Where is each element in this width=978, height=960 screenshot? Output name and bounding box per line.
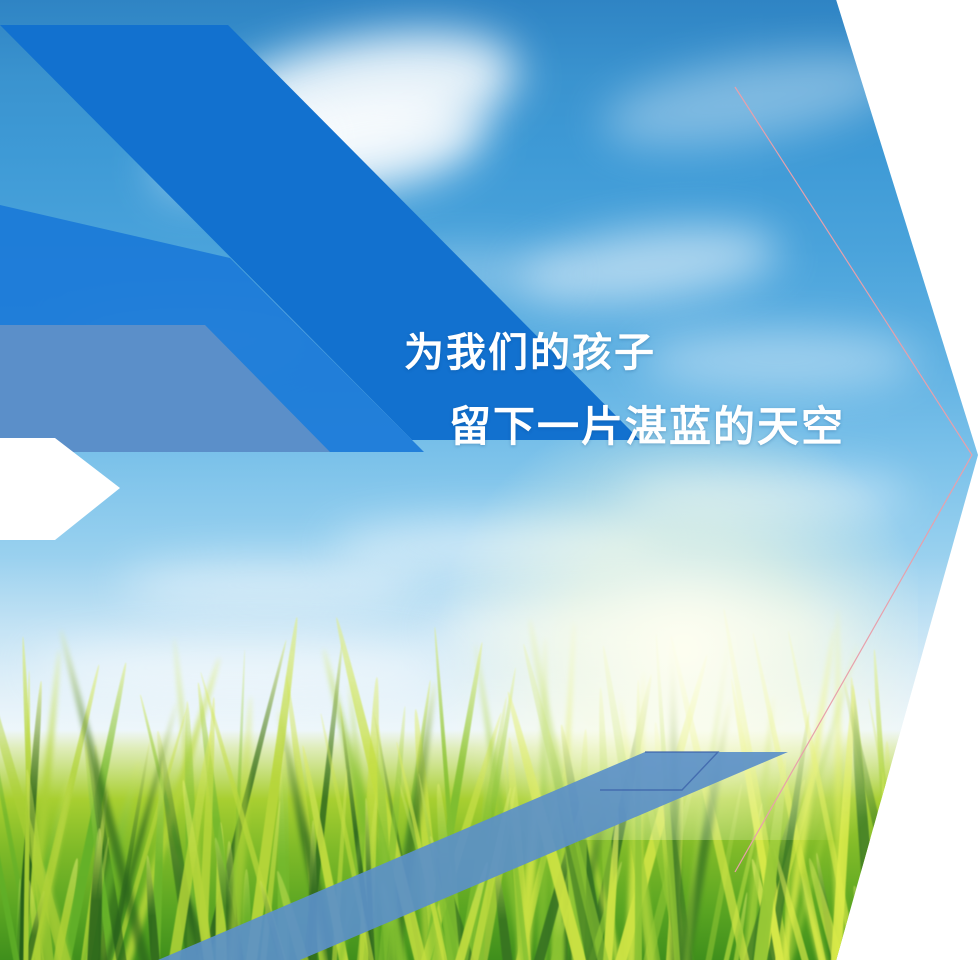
grass-blade xyxy=(905,800,956,960)
grass-blade xyxy=(880,772,894,960)
headline-line-1: 为我们的孩子 xyxy=(404,330,880,376)
grass-blade xyxy=(933,792,950,960)
photo-backdrop xyxy=(0,0,978,960)
grass-blade xyxy=(915,663,978,960)
headline-block: 为我们的孩子 留下一片湛蓝的天空 xyxy=(0,330,880,451)
environmental-banner: 为我们的孩子 留下一片湛蓝的天空 xyxy=(0,0,978,960)
headline-line-2: 留下一片湛蓝的天空 xyxy=(449,403,880,451)
grass-blade xyxy=(849,885,879,960)
grass-blade xyxy=(957,773,968,960)
grass-blade xyxy=(937,658,978,960)
grass-blade xyxy=(890,798,923,960)
grass-blade xyxy=(926,867,969,960)
grass-blade xyxy=(878,791,927,960)
